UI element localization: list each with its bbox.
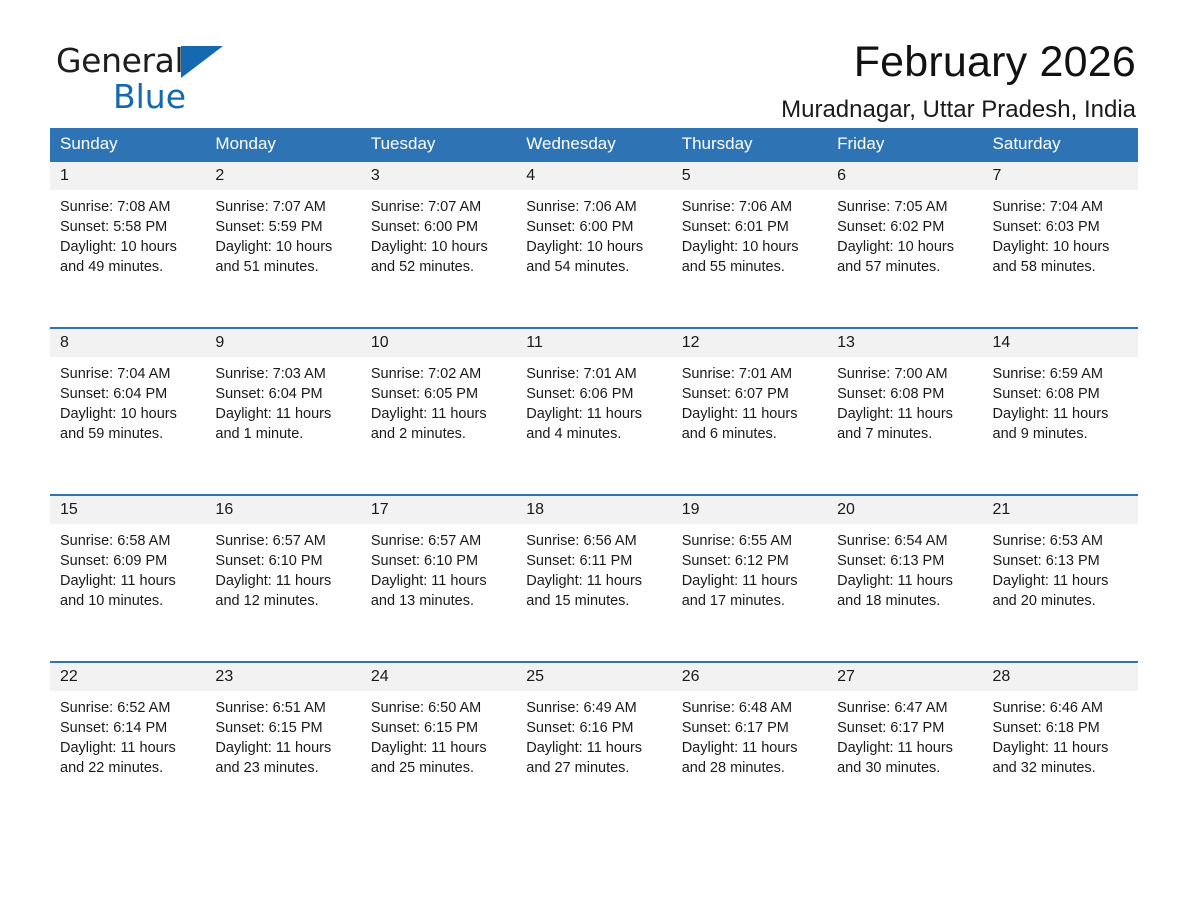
sunrise-text: Sunrise: 6:48 AM (682, 698, 817, 718)
sunrise-text: Sunrise: 7:02 AM (371, 364, 506, 384)
daylight-text: Daylight: 11 hours and 25 minutes. (371, 738, 506, 778)
week-row: 15 Sunrise: 6:58 AM Sunset: 6:09 PM Dayl… (50, 495, 1138, 662)
daylight-text: Daylight: 10 hours and 58 minutes. (993, 237, 1128, 277)
daylight-text: Daylight: 10 hours and 49 minutes. (60, 237, 195, 277)
week-row: 22 Sunrise: 6:52 AM Sunset: 6:14 PM Dayl… (50, 662, 1138, 828)
sunset-text: Sunset: 6:08 PM (993, 384, 1128, 404)
day-details: Sunrise: 6:49 AM Sunset: 6:16 PM Dayligh… (516, 691, 671, 778)
calendar-page: General Blue February 2026 Muradnagar, U… (0, 0, 1188, 918)
sunrise-text: Sunrise: 6:57 AM (371, 531, 506, 551)
day-cell[interactable]: 25 Sunrise: 6:49 AM Sunset: 6:16 PM Dayl… (516, 662, 671, 828)
day-cell[interactable]: 18 Sunrise: 6:56 AM Sunset: 6:11 PM Dayl… (516, 495, 671, 662)
day-cell[interactable]: 8 Sunrise: 7:04 AM Sunset: 6:04 PM Dayli… (50, 328, 205, 495)
sunrise-text: Sunrise: 6:49 AM (526, 698, 661, 718)
sunrise-text: Sunrise: 7:01 AM (526, 364, 661, 384)
day-cell[interactable]: 6 Sunrise: 7:05 AM Sunset: 6:02 PM Dayli… (827, 162, 982, 328)
day-cell[interactable]: 28 Sunrise: 6:46 AM Sunset: 6:18 PM Dayl… (983, 662, 1138, 828)
sunset-text: Sunset: 6:07 PM (682, 384, 817, 404)
daylight-text: Daylight: 11 hours and 17 minutes. (682, 571, 817, 611)
sunrise-text: Sunrise: 7:07 AM (215, 197, 350, 217)
sunset-text: Sunset: 6:08 PM (837, 384, 972, 404)
day-cell[interactable]: 2 Sunrise: 7:07 AM Sunset: 5:59 PM Dayli… (205, 162, 360, 328)
sunset-text: Sunset: 6:14 PM (60, 718, 195, 738)
day-number: 15 (50, 496, 205, 525)
day-cell[interactable]: 4 Sunrise: 7:06 AM Sunset: 6:00 PM Dayli… (516, 162, 671, 328)
day-cell[interactable]: 16 Sunrise: 6:57 AM Sunset: 6:10 PM Dayl… (205, 495, 360, 662)
daylight-text: Daylight: 10 hours and 54 minutes. (526, 237, 661, 277)
day-cell[interactable]: 19 Sunrise: 6:55 AM Sunset: 6:12 PM Dayl… (672, 495, 827, 662)
day-details: Sunrise: 6:47 AM Sunset: 6:17 PM Dayligh… (827, 691, 982, 778)
day-cell[interactable]: 10 Sunrise: 7:02 AM Sunset: 6:05 PM Dayl… (361, 328, 516, 495)
weekday-header-saturday: Saturday (983, 128, 1138, 162)
day-details: Sunrise: 6:46 AM Sunset: 6:18 PM Dayligh… (983, 691, 1138, 778)
sunset-text: Sunset: 6:04 PM (60, 384, 195, 404)
day-cell[interactable]: 5 Sunrise: 7:06 AM Sunset: 6:01 PM Dayli… (672, 162, 827, 328)
day-number: 7 (983, 162, 1138, 191)
daylight-text: Daylight: 11 hours and 27 minutes. (526, 738, 661, 778)
day-cell[interactable]: 9 Sunrise: 7:03 AM Sunset: 6:04 PM Dayli… (205, 328, 360, 495)
daylight-text: Daylight: 11 hours and 18 minutes. (837, 571, 972, 611)
sunrise-text: Sunrise: 7:04 AM (60, 364, 195, 384)
sunrise-text: Sunrise: 6:58 AM (60, 531, 195, 551)
sunrise-text: Sunrise: 6:51 AM (215, 698, 350, 718)
daylight-text: Daylight: 11 hours and 23 minutes. (215, 738, 350, 778)
day-number: 1 (50, 162, 205, 191)
weekday-header-friday: Friday (827, 128, 982, 162)
day-cell[interactable]: 7 Sunrise: 7:04 AM Sunset: 6:03 PM Dayli… (983, 162, 1138, 328)
sunset-text: Sunset: 6:18 PM (993, 718, 1128, 738)
sunset-text: Sunset: 6:13 PM (837, 551, 972, 571)
sunrise-text: Sunrise: 6:50 AM (371, 698, 506, 718)
sunset-text: Sunset: 6:11 PM (526, 551, 661, 571)
day-details: Sunrise: 7:03 AM Sunset: 6:04 PM Dayligh… (205, 357, 360, 444)
day-cell[interactable]: 20 Sunrise: 6:54 AM Sunset: 6:13 PM Dayl… (827, 495, 982, 662)
sunrise-text: Sunrise: 6:59 AM (993, 364, 1128, 384)
day-details: Sunrise: 7:01 AM Sunset: 6:07 PM Dayligh… (672, 357, 827, 444)
sunrise-text: Sunrise: 7:08 AM (60, 197, 195, 217)
daylight-text: Daylight: 11 hours and 32 minutes. (993, 738, 1128, 778)
day-details: Sunrise: 7:01 AM Sunset: 6:06 PM Dayligh… (516, 357, 671, 444)
sunset-text: Sunset: 5:58 PM (60, 217, 195, 237)
day-number: 8 (50, 329, 205, 358)
day-cell[interactable]: 27 Sunrise: 6:47 AM Sunset: 6:17 PM Dayl… (827, 662, 982, 828)
day-number: 27 (827, 663, 982, 692)
sunset-text: Sunset: 6:03 PM (993, 217, 1128, 237)
day-number: 10 (361, 329, 516, 358)
weekday-header-thursday: Thursday (672, 128, 827, 162)
day-number: 23 (205, 663, 360, 692)
day-cell[interactable]: 22 Sunrise: 6:52 AM Sunset: 6:14 PM Dayl… (50, 662, 205, 828)
sunrise-text: Sunrise: 7:03 AM (215, 364, 350, 384)
day-number: 2 (205, 162, 360, 191)
daylight-text: Daylight: 10 hours and 55 minutes. (682, 237, 817, 277)
day-number: 13 (827, 329, 982, 358)
day-number: 9 (205, 329, 360, 358)
sunset-text: Sunset: 6:13 PM (993, 551, 1128, 571)
daylight-text: Daylight: 11 hours and 6 minutes. (682, 404, 817, 444)
weekday-header-tuesday: Tuesday (361, 128, 516, 162)
page-header: General Blue February 2026 Muradnagar, U… (50, 0, 1138, 110)
day-cell[interactable]: 11 Sunrise: 7:01 AM Sunset: 6:06 PM Dayl… (516, 328, 671, 495)
day-number: 4 (516, 162, 671, 191)
day-details: Sunrise: 7:00 AM Sunset: 6:08 PM Dayligh… (827, 357, 982, 444)
sunrise-text: Sunrise: 7:04 AM (993, 197, 1128, 217)
daylight-text: Daylight: 11 hours and 20 minutes. (993, 571, 1128, 611)
sunrise-text: Sunrise: 6:54 AM (837, 531, 972, 551)
sunrise-text: Sunrise: 7:05 AM (837, 197, 972, 217)
sunset-text: Sunset: 6:05 PM (371, 384, 506, 404)
sunrise-text: Sunrise: 7:01 AM (682, 364, 817, 384)
day-cell[interactable]: 14 Sunrise: 6:59 AM Sunset: 6:08 PM Dayl… (983, 328, 1138, 495)
sunset-text: Sunset: 6:16 PM (526, 718, 661, 738)
weekday-header-monday: Monday (205, 128, 360, 162)
sunset-text: Sunset: 6:10 PM (215, 551, 350, 571)
day-number: 3 (361, 162, 516, 191)
day-number: 26 (672, 663, 827, 692)
brand-name-general: General (56, 44, 183, 77)
sunrise-text: Sunrise: 6:46 AM (993, 698, 1128, 718)
day-details: Sunrise: 7:04 AM Sunset: 6:04 PM Dayligh… (50, 357, 205, 444)
day-details: Sunrise: 6:57 AM Sunset: 6:10 PM Dayligh… (361, 524, 516, 611)
brand-logo[interactable]: General Blue (56, 44, 316, 116)
day-number: 24 (361, 663, 516, 692)
day-details: Sunrise: 7:06 AM Sunset: 6:01 PM Dayligh… (672, 190, 827, 277)
sunset-text: Sunset: 6:00 PM (526, 217, 661, 237)
day-number: 16 (205, 496, 360, 525)
day-details: Sunrise: 7:06 AM Sunset: 6:00 PM Dayligh… (516, 190, 671, 277)
day-details: Sunrise: 7:08 AM Sunset: 5:58 PM Dayligh… (50, 190, 205, 277)
day-cell[interactable]: 13 Sunrise: 7:00 AM Sunset: 6:08 PM Dayl… (827, 328, 982, 495)
day-cell[interactable]: 15 Sunrise: 6:58 AM Sunset: 6:09 PM Dayl… (50, 495, 205, 662)
weekday-header-wednesday: Wednesday (516, 128, 671, 162)
daylight-text: Daylight: 11 hours and 1 minute. (215, 404, 350, 444)
day-cell[interactable]: 26 Sunrise: 6:48 AM Sunset: 6:17 PM Dayl… (672, 662, 827, 828)
sunset-text: Sunset: 6:00 PM (371, 217, 506, 237)
sunset-text: Sunset: 6:10 PM (371, 551, 506, 571)
day-number: 6 (827, 162, 982, 191)
day-number: 18 (516, 496, 671, 525)
day-details: Sunrise: 7:07 AM Sunset: 6:00 PM Dayligh… (361, 190, 516, 277)
sunrise-text: Sunrise: 7:06 AM (682, 197, 817, 217)
day-details: Sunrise: 6:59 AM Sunset: 6:08 PM Dayligh… (983, 357, 1138, 444)
day-details: Sunrise: 6:53 AM Sunset: 6:13 PM Dayligh… (983, 524, 1138, 611)
sunset-text: Sunset: 6:04 PM (215, 384, 350, 404)
sunrise-text: Sunrise: 6:52 AM (60, 698, 195, 718)
day-number: 19 (672, 496, 827, 525)
sunrise-text: Sunrise: 6:47 AM (837, 698, 972, 718)
sunset-text: Sunset: 6:15 PM (215, 718, 350, 738)
daylight-text: Daylight: 11 hours and 2 minutes. (371, 404, 506, 444)
sunrise-text: Sunrise: 7:06 AM (526, 197, 661, 217)
sunset-text: Sunset: 6:01 PM (682, 217, 817, 237)
day-details: Sunrise: 6:55 AM Sunset: 6:12 PM Dayligh… (672, 524, 827, 611)
triangle-flag-icon (181, 46, 223, 78)
day-details: Sunrise: 6:56 AM Sunset: 6:11 PM Dayligh… (516, 524, 671, 611)
day-number: 28 (983, 663, 1138, 692)
day-number: 21 (983, 496, 1138, 525)
daylight-text: Daylight: 11 hours and 30 minutes. (837, 738, 972, 778)
calendar-table: Sunday Monday Tuesday Wednesday Thursday… (50, 128, 1138, 828)
sunset-text: Sunset: 6:12 PM (682, 551, 817, 571)
daylight-text: Daylight: 10 hours and 52 minutes. (371, 237, 506, 277)
sunrise-text: Sunrise: 6:56 AM (526, 531, 661, 551)
sunrise-text: Sunrise: 7:00 AM (837, 364, 972, 384)
sunrise-text: Sunrise: 6:55 AM (682, 531, 817, 551)
day-cell[interactable]: 23 Sunrise: 6:51 AM Sunset: 6:15 PM Dayl… (205, 662, 360, 828)
day-cell[interactable]: 24 Sunrise: 6:50 AM Sunset: 6:15 PM Dayl… (361, 662, 516, 828)
week-row: 8 Sunrise: 7:04 AM Sunset: 6:04 PM Dayli… (50, 328, 1138, 495)
day-details: Sunrise: 6:48 AM Sunset: 6:17 PM Dayligh… (672, 691, 827, 778)
day-cell[interactable]: 21 Sunrise: 6:53 AM Sunset: 6:13 PM Dayl… (983, 495, 1138, 662)
daylight-text: Daylight: 11 hours and 15 minutes. (526, 571, 661, 611)
day-number: 20 (827, 496, 982, 525)
day-details: Sunrise: 7:02 AM Sunset: 6:05 PM Dayligh… (361, 357, 516, 444)
daylight-text: Daylight: 11 hours and 9 minutes. (993, 404, 1128, 444)
day-cell[interactable]: 3 Sunrise: 7:07 AM Sunset: 6:00 PM Dayli… (361, 162, 516, 328)
day-number: 12 (672, 329, 827, 358)
sunset-text: Sunset: 6:15 PM (371, 718, 506, 738)
sunset-text: Sunset: 5:59 PM (215, 217, 350, 237)
daylight-text: Daylight: 11 hours and 28 minutes. (682, 738, 817, 778)
sunset-text: Sunset: 6:02 PM (837, 217, 972, 237)
day-details: Sunrise: 7:05 AM Sunset: 6:02 PM Dayligh… (827, 190, 982, 277)
day-cell[interactable]: 1 Sunrise: 7:08 AM Sunset: 5:58 PM Dayli… (50, 162, 205, 328)
daylight-text: Daylight: 11 hours and 4 minutes. (526, 404, 661, 444)
day-cell[interactable]: 12 Sunrise: 7:01 AM Sunset: 6:07 PM Dayl… (672, 328, 827, 495)
day-details: Sunrise: 6:57 AM Sunset: 6:10 PM Dayligh… (205, 524, 360, 611)
daylight-text: Daylight: 10 hours and 59 minutes. (60, 404, 195, 444)
day-number: 25 (516, 663, 671, 692)
daylight-text: Daylight: 10 hours and 57 minutes. (837, 237, 972, 277)
sunrise-text: Sunrise: 6:53 AM (993, 531, 1128, 551)
day-details: Sunrise: 6:52 AM Sunset: 6:14 PM Dayligh… (50, 691, 205, 778)
day-cell[interactable]: 17 Sunrise: 6:57 AM Sunset: 6:10 PM Dayl… (361, 495, 516, 662)
daylight-text: Daylight: 11 hours and 7 minutes. (837, 404, 972, 444)
sunset-text: Sunset: 6:06 PM (526, 384, 661, 404)
day-number: 17 (361, 496, 516, 525)
day-details: Sunrise: 6:51 AM Sunset: 6:15 PM Dayligh… (205, 691, 360, 778)
day-number: 22 (50, 663, 205, 692)
weekday-header-sunday: Sunday (50, 128, 205, 162)
daylight-text: Daylight: 11 hours and 10 minutes. (60, 571, 195, 611)
daylight-text: Daylight: 10 hours and 51 minutes. (215, 237, 350, 277)
day-details: Sunrise: 7:07 AM Sunset: 5:59 PM Dayligh… (205, 190, 360, 277)
day-details: Sunrise: 6:54 AM Sunset: 6:13 PM Dayligh… (827, 524, 982, 611)
sunset-text: Sunset: 6:17 PM (682, 718, 817, 738)
sunset-text: Sunset: 6:17 PM (837, 718, 972, 738)
brand-name-blue: Blue (113, 80, 186, 113)
sunrise-text: Sunrise: 7:07 AM (371, 197, 506, 217)
calendar-body: 1 Sunrise: 7:08 AM Sunset: 5:58 PM Dayli… (50, 162, 1138, 828)
daylight-text: Daylight: 11 hours and 22 minutes. (60, 738, 195, 778)
calendar-header-row: Sunday Monday Tuesday Wednesday Thursday… (50, 128, 1138, 162)
week-row: 1 Sunrise: 7:08 AM Sunset: 5:58 PM Dayli… (50, 162, 1138, 328)
day-details: Sunrise: 6:58 AM Sunset: 6:09 PM Dayligh… (50, 524, 205, 611)
day-number: 5 (672, 162, 827, 191)
day-details: Sunrise: 7:04 AM Sunset: 6:03 PM Dayligh… (983, 190, 1138, 277)
day-details: Sunrise: 6:50 AM Sunset: 6:15 PM Dayligh… (361, 691, 516, 778)
daylight-text: Daylight: 11 hours and 12 minutes. (215, 571, 350, 611)
day-number: 11 (516, 329, 671, 358)
daylight-text: Daylight: 11 hours and 13 minutes. (371, 571, 506, 611)
day-number: 14 (983, 329, 1138, 358)
sunrise-text: Sunrise: 6:57 AM (215, 531, 350, 551)
sunset-text: Sunset: 6:09 PM (60, 551, 195, 571)
